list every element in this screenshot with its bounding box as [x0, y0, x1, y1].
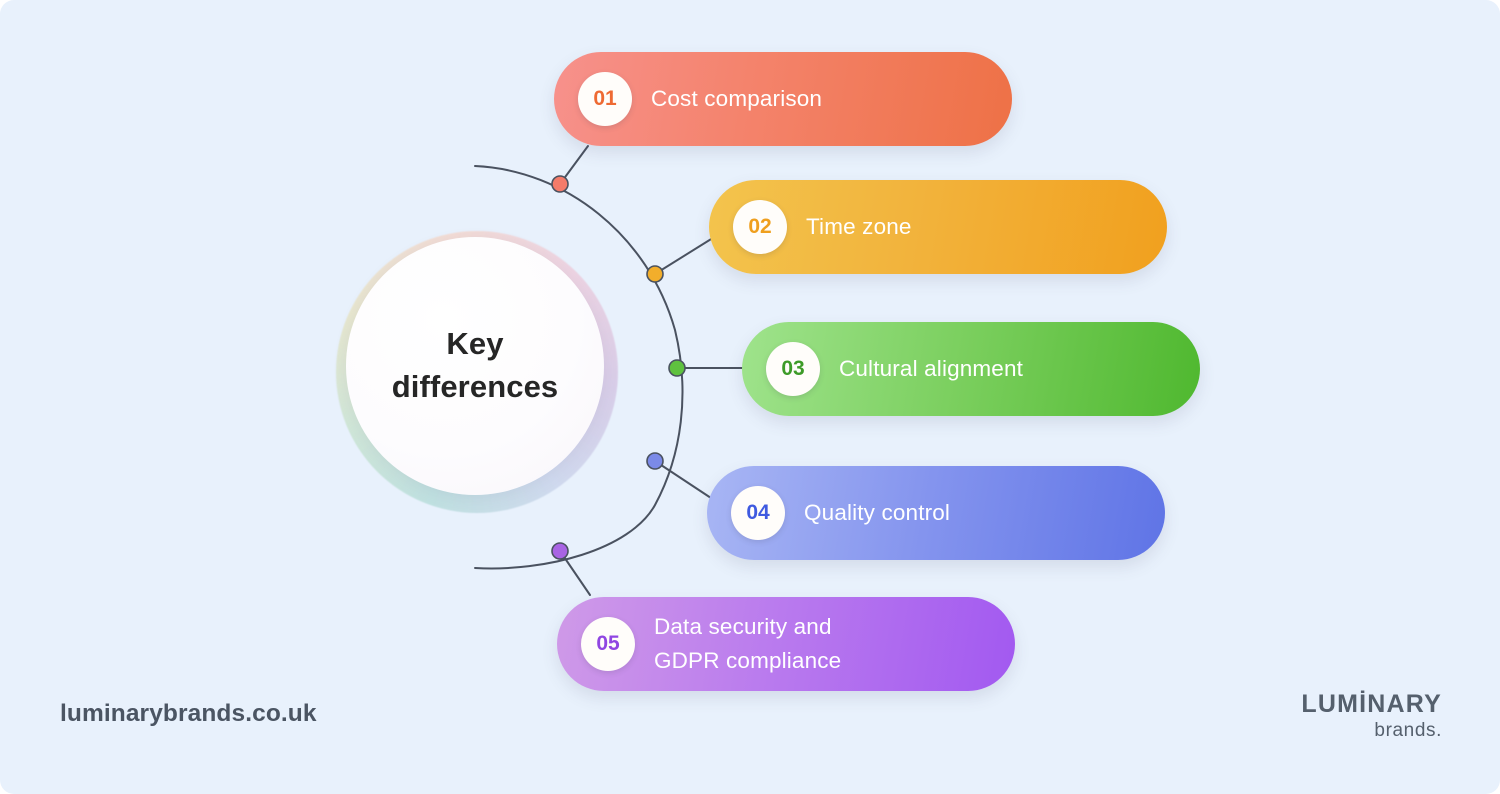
item-number-badge-2: 02 [733, 200, 787, 254]
node-dot-2[interactable] [647, 266, 663, 282]
connector-line-2 [655, 236, 716, 274]
item-label-2: Time zone [806, 210, 912, 244]
item-pill-5[interactable]: 05 Data security and GDPR compliance [557, 597, 1015, 691]
item-number-badge-3: 03 [766, 342, 820, 396]
brand-logo: LUMİNARY brands. [1301, 692, 1442, 743]
item-label-3: Cultural alignment [839, 352, 1023, 386]
item-pill-1[interactable]: 01 Cost comparison [554, 52, 1012, 146]
node-dot-3[interactable] [669, 360, 685, 376]
item-number-badge-5: 05 [581, 617, 635, 671]
item-label-1: Cost comparison [651, 82, 822, 116]
brand-logo-main: LUMİNARY [1301, 692, 1442, 717]
brand-logo-sub: brands. [1301, 719, 1442, 743]
item-pill-3[interactable]: 03 Cultural alignment [742, 322, 1200, 416]
infographic-canvas: Key differences 01 Cost comparison 02 Ti… [0, 0, 1500, 794]
item-label-4: Quality control [804, 496, 950, 530]
site-url: luminarybrands.co.uk [60, 700, 317, 728]
node-dot-1[interactable] [552, 176, 568, 192]
hub-arc [475, 166, 682, 568]
item-number-badge-4: 04 [731, 486, 785, 540]
node-dot-5[interactable] [552, 543, 568, 559]
connector-line-4 [655, 461, 714, 500]
item-pill-4[interactable]: 04 Quality control [707, 466, 1165, 560]
item-pill-2[interactable]: 02 Time zone [709, 180, 1167, 274]
item-label-5: Data security and GDPR compliance [654, 610, 841, 678]
item-number-badge-1: 01 [578, 72, 632, 126]
node-dot-4[interactable] [647, 453, 663, 469]
